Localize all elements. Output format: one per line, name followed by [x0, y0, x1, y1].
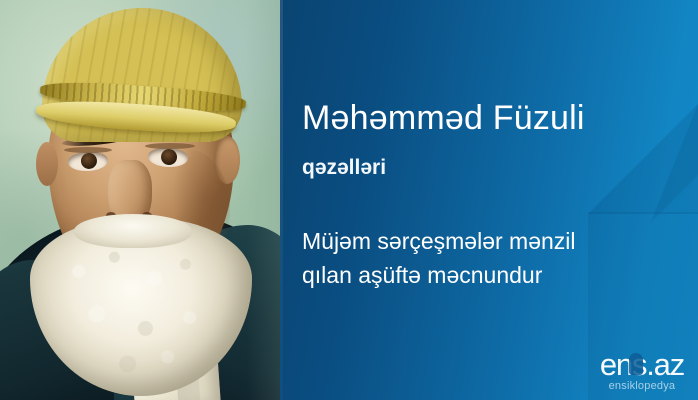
left-iris — [81, 153, 98, 170]
poem-line: qılan aşüftə məcnundur — [302, 258, 576, 292]
moustache-shape — [74, 214, 192, 248]
site-logo-wordmark: ens.az — [600, 349, 684, 380]
article-banner: Məhəmməd Füzuli qəzəlləri Müjəm sərçeşmə… — [0, 0, 698, 400]
site-logo[interactable]: ens.az ensiklopedya — [600, 349, 684, 392]
site-logo-accent-shape — [629, 353, 643, 375]
right-iris — [161, 149, 178, 166]
page-title: Məhəmməd Füzuli — [302, 100, 585, 137]
right-eyelid — [145, 143, 195, 149]
portrait-image — [0, 0, 280, 400]
poem-line: Müjəm sərçeşmələr mənzil — [302, 224, 576, 258]
page-subtitle: qəzəlləri — [302, 156, 386, 179]
site-logo-tagline: ensiklopedya — [600, 381, 684, 392]
panel-left-edge — [280, 0, 283, 400]
text-panel: Məhəmməd Füzuli qəzəlləri Müjəm sərçeşmə… — [280, 0, 698, 400]
left-eyelid — [64, 147, 112, 153]
left-ear — [36, 142, 58, 186]
poem-text: Müjəm sərçeşmələr mənzil qılan aşüftə mə… — [302, 224, 576, 292]
